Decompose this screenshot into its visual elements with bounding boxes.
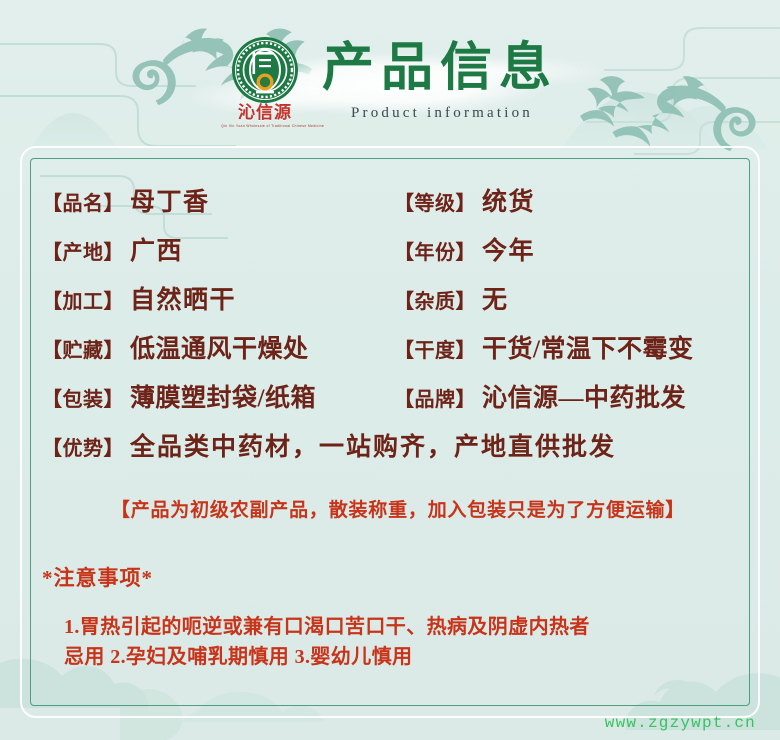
packaging-disclaimer-note: 【产品为初级农副产品，散装称重，加入包装只是为了方便运输】 [42,495,754,522]
info-tag: 【品牌】 [394,383,476,412]
info-tag: 【贮藏】 [42,334,124,363]
info-tag: 【杂质】 [394,285,476,314]
info-value: 全品类中药材，一站购齐，产地直供批发 [130,427,616,463]
info-value: 自然晒干 [130,280,236,316]
logo-brand-name: 沁信源 [222,104,308,121]
brand-logo: 沁信源 Qin Xin Yuan Wholesale of Traditiona… [222,36,308,136]
caution-line-1: 1.胃热引起的呃逆或兼有口渴口苦口干、热病及阴虚内热者 [64,612,754,642]
info-tag: 【品名】 [42,187,124,216]
info-tag: 【包装】 [42,383,124,412]
info-row: 【产地】 广西 【年份】 今年 [42,231,754,280]
info-cell-year: 【年份】 今年 [394,231,754,267]
info-value: 无 [482,280,509,316]
info-tag: 【产地】 [42,236,124,265]
product-info-page: 沁信源 Qin Xin Yuan Wholesale of Traditiona… [0,0,780,740]
page-title: 产品信息 [322,38,558,100]
site-watermark: www.zgzywpt.cn [605,714,756,732]
caution-title: *注意事项* [42,562,754,592]
info-tag: 【年份】 [394,236,476,265]
info-cell-advantage: 【优势】 全品类中药材，一站购齐，产地直供批发 [42,427,754,463]
info-tag: 【干度】 [394,334,476,363]
info-row-advantage: 【优势】 全品类中药材，一站购齐，产地直供批发 [42,427,754,476]
info-cell-origin: 【产地】 广西 [42,231,394,267]
info-row: 【包装】 薄膜塑封袋/纸箱 【品牌】 沁信源—中药批发 [42,378,754,427]
caution-line-2: 忌用 2.孕妇及哺乳期慎用 3.婴幼儿慎用 [64,642,754,672]
info-value: 沁信源—中药批发 [482,378,686,414]
info-cell-dryness: 【干度】 干货/常温下不霉变 [394,329,754,365]
info-row: 【贮藏】 低温通风干燥处 【干度】 干货/常温下不霉变 [42,329,754,378]
logo-emblem-icon [231,36,299,104]
info-cell-packaging: 【包装】 薄膜塑封袋/纸箱 [42,378,394,414]
info-tag: 【优势】 [42,432,124,461]
info-cell-brand: 【品牌】 沁信源—中药批发 [394,378,754,414]
product-info-table: 【品名】 母丁香 【等级】 统货 【产地】 广西 【年份】 今年 【加工】 自然… [42,182,754,476]
info-value: 母丁香 [130,182,210,218]
info-cell-processing: 【加工】 自然晒干 [42,280,394,316]
info-tag: 【等级】 [394,187,476,216]
title-block: 产品信息 Product information [322,36,558,122]
page-subtitle: Product information [322,105,558,122]
info-value: 今年 [482,231,535,267]
info-cell-storage: 【贮藏】 低温通风干燥处 [42,329,394,365]
info-value: 广西 [130,231,183,267]
info-cell-product-name: 【品名】 母丁香 [42,182,394,218]
page-header: 沁信源 Qin Xin Yuan Wholesale of Traditiona… [0,0,780,150]
caution-section: *注意事项* 1.胃热引起的呃逆或兼有口渴口苦口干、热病及阴虚内热者 忌用 2.… [42,562,754,672]
info-tag: 【加工】 [42,285,124,314]
info-value: 干货/常温下不霉变 [482,329,693,365]
info-row: 【品名】 母丁香 【等级】 统货 [42,182,754,231]
info-row: 【加工】 自然晒干 【杂质】 无 [42,280,754,329]
info-value: 薄膜塑封袋/纸箱 [130,378,316,414]
info-cell-impurity: 【杂质】 无 [394,280,754,316]
info-value: 低温通风干燥处 [130,329,309,365]
info-value: 统货 [482,182,535,218]
info-cell-grade: 【等级】 统货 [394,182,754,218]
caution-body: 1.胃热引起的呃逆或兼有口渴口苦口干、热病及阴虚内热者 忌用 2.孕妇及哺乳期慎… [42,612,754,672]
logo-brand-subtitle: Qin Xin Yuan Wholesale of Traditional Ch… [221,124,309,128]
